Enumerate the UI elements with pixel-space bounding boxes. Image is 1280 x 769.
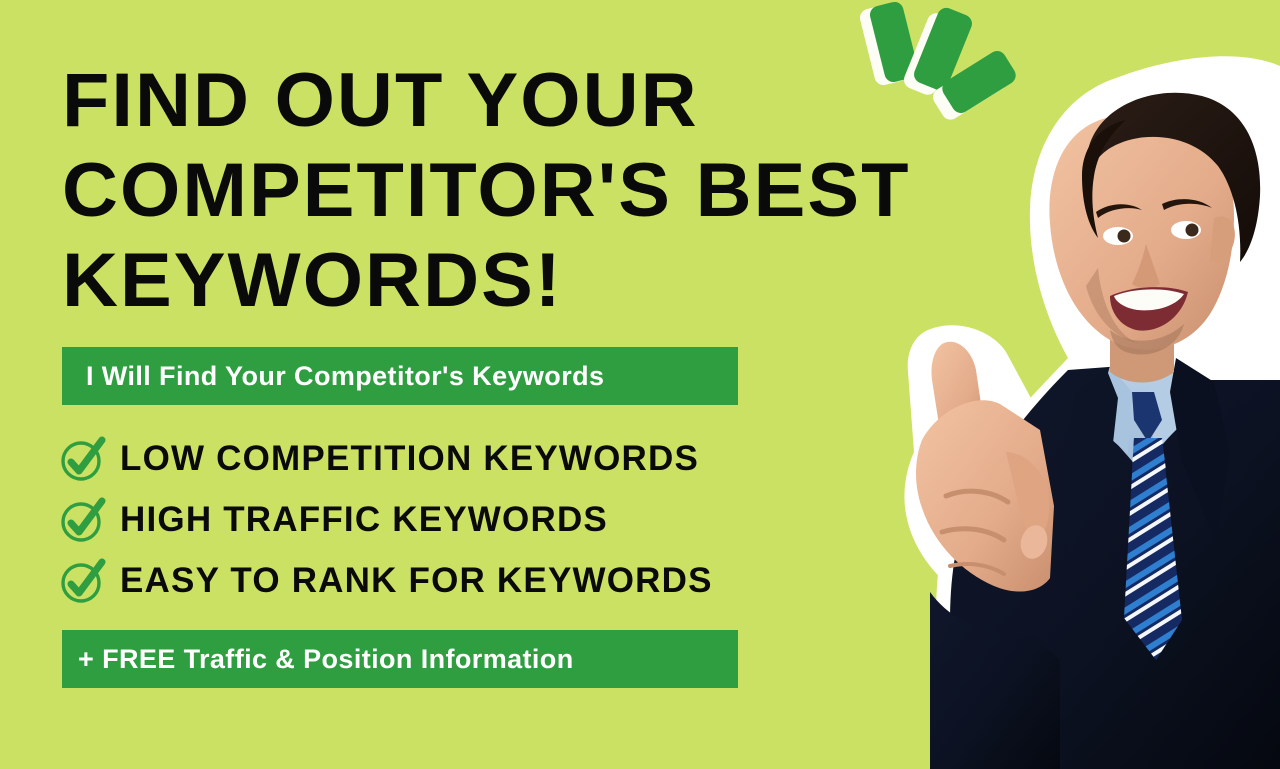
feature-label: LOW COMPETITION KEYWORDS	[120, 439, 699, 479]
check-circle-icon	[58, 557, 106, 605]
promo-poster: FIND OUT YOUR COMPETITOR'S BEST KEYWORDS…	[0, 0, 1280, 769]
page-title: FIND OUT YOUR COMPETITOR'S BEST KEYWORDS…	[62, 56, 892, 326]
list-item: LOW COMPETITION KEYWORDS	[58, 430, 818, 488]
list-item: EASY TO RANK FOR KEYWORDS	[58, 552, 818, 610]
dash-3-shadow	[930, 55, 1011, 123]
feature-list: LOW COMPETITION KEYWORDS HIGH TRAFFIC KE…	[58, 430, 818, 613]
check-circle-icon	[58, 435, 106, 483]
headline-line-2: COMPETITOR'S BEST	[62, 146, 909, 236]
offer-ribbon-secondary-text: + FREE Traffic & Position Information	[78, 644, 574, 675]
sticker-outline	[904, 56, 1280, 769]
check-circle-icon	[58, 496, 106, 544]
feature-label: HIGH TRAFFIC KEYWORDS	[120, 500, 608, 540]
offer-ribbon-secondary: + FREE Traffic & Position Information	[62, 630, 738, 688]
dash-2	[911, 5, 974, 93]
headline-line-3: KEYWORDS!	[62, 236, 909, 326]
pointing-hand	[916, 342, 1054, 592]
list-item: HIGH TRAFFIC KEYWORDS	[58, 491, 818, 549]
feature-label: EASY TO RANK FOR KEYWORDS	[120, 561, 713, 601]
offer-ribbon-primary: I Will Find Your Competitor's Keywords	[62, 347, 738, 405]
headline-line-1: FIND OUT YOUR	[62, 56, 909, 146]
dash-3	[939, 48, 1019, 117]
offer-ribbon-primary-text: I Will Find Your Competitor's Keywords	[86, 361, 604, 392]
dash-2-shadow	[901, 11, 962, 98]
